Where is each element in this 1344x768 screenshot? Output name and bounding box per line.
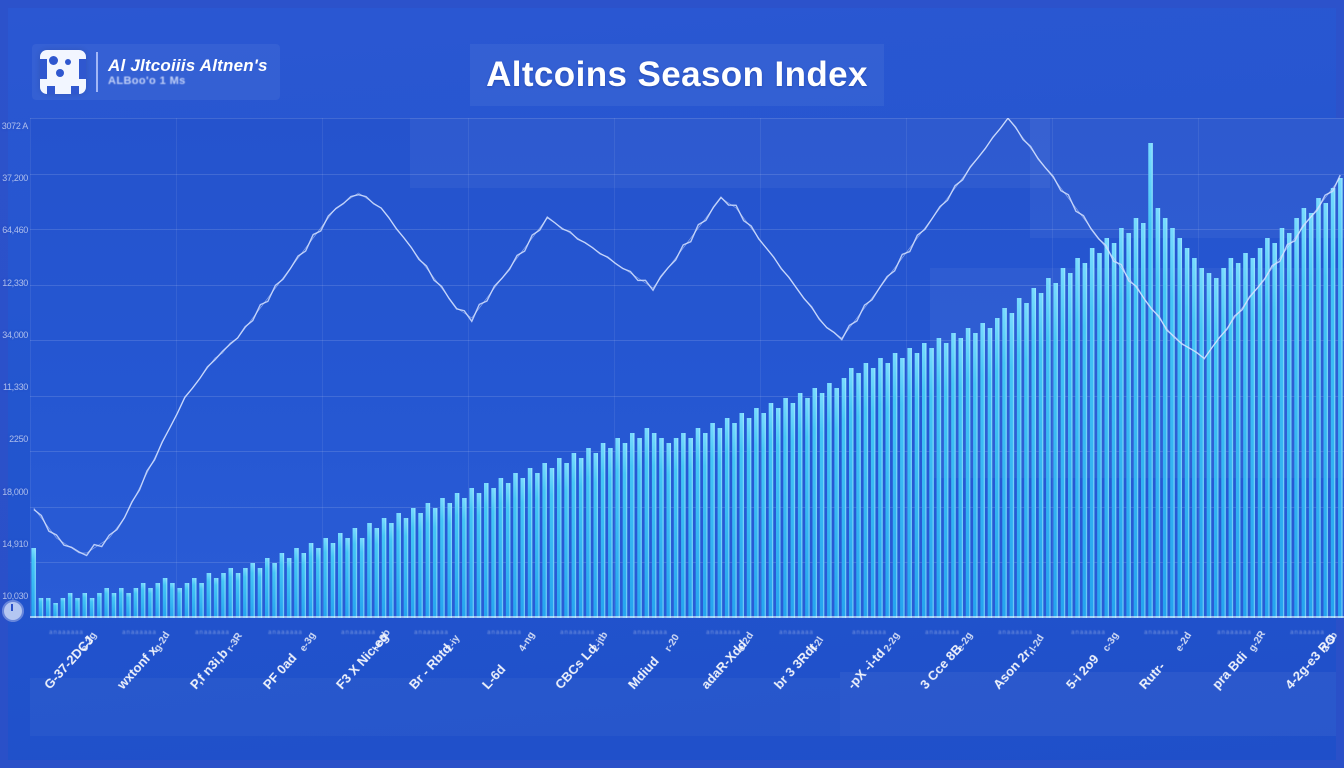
y-axis-tick: 12,330 xyxy=(2,278,28,288)
y-axis-tick: 18,000 xyxy=(2,487,28,497)
x-axis-minor-tick: anaaaaaa xyxy=(195,630,230,636)
x-axis-tick-lower: 4-2g-e3 RO xyxy=(1282,631,1339,692)
x-axis-tick-lower: G-37-2DCJ xyxy=(41,633,97,692)
page-title: Altcoins Season Index xyxy=(486,55,868,95)
bar-series xyxy=(31,143,1342,618)
x-axis-tick-lower: L-6d xyxy=(479,662,509,692)
x-axis-tick-lower: wxtonf x xyxy=(114,643,160,692)
x-axis-minor-tick: anaaaaaa xyxy=(49,630,84,636)
logo-text: Al Jltcoiiis Altnen's ALBoo'o 1 Ms xyxy=(108,56,268,87)
x-axis-tick-lower: Mdiud xyxy=(625,654,662,692)
chart-series-layer xyxy=(30,118,1344,618)
x-axis-minor-tick: anaaaaaa xyxy=(560,630,595,636)
x-axis-minor-tick: anaaaaaa xyxy=(1217,630,1252,636)
altcoin-badge-icon xyxy=(40,50,86,94)
page-title-plate: Altcoins Season Index xyxy=(470,44,884,106)
x-axis-minor-tick: anaaaaaa xyxy=(779,630,814,636)
x-axis-minor-tick: anaaaaaa xyxy=(633,630,668,636)
axis-origin-marker[interactable] xyxy=(2,600,24,622)
x-axis-baseline xyxy=(30,616,1344,618)
logo-divider xyxy=(96,52,98,92)
x-axis-tick-lower: CBCs Ld xyxy=(552,641,600,692)
x-axis: anaaaaaaanaaaaaaanaaaaaaanaaaaaaanaaaaaa… xyxy=(30,622,1344,768)
logo-subtitle: ALBoo'o 1 Ms xyxy=(108,75,268,87)
y-axis-tick: 2250 xyxy=(9,434,28,444)
x-axis-tick-lower: -pX -i-td xyxy=(844,646,888,693)
x-axis-tick-lower: Rutr- xyxy=(1136,659,1168,692)
y-axis-tick: 37,200 xyxy=(2,173,28,183)
y-axis-tick: 64,460 xyxy=(2,225,28,235)
x-axis-minor-tick: anaaaaaa xyxy=(925,630,960,636)
x-axis-tick-lower: Br - Rbtd xyxy=(406,641,454,692)
x-axis-tick-lower: Ason 2r, xyxy=(990,644,1035,692)
y-axis-tick: 11,330 xyxy=(3,382,28,392)
logo-title: Al Jltcoiiis Altnen's xyxy=(108,56,268,75)
y-axis-tick: 14,910 xyxy=(2,539,28,549)
x-axis-tick-lower: F3 X Nic-eg xyxy=(333,629,392,692)
screenshot-root: Al Jltcoiiis Altnen's ALBoo'o 1 Ms Altco… xyxy=(0,0,1344,768)
x-axis-tick-lower: adaR-Xdd xyxy=(698,637,750,692)
x-axis-minor-tick: anaaaaaa xyxy=(1071,630,1106,636)
x-axis-minor-tick: anaaaaaa xyxy=(122,630,157,636)
x-axis-minor-tick: anaaaaaa xyxy=(706,630,741,636)
x-axis-minor-tick: anaaaaaa xyxy=(414,630,449,636)
x-axis-tick-lower: 5-i 2o9 xyxy=(1063,651,1102,692)
chart-plot-area[interactable] xyxy=(30,118,1344,618)
brand-logo[interactable]: Al Jltcoiiis Altnen's ALBoo'o 1 Ms xyxy=(32,44,280,100)
x-axis-minor-tick: anaaaaaa xyxy=(268,630,303,636)
x-axis-tick-lower: pra Bdi xyxy=(1209,649,1250,692)
y-axis: 3072 A37,20064,46012,33034,00011,3302250… xyxy=(0,118,30,618)
y-axis-tick: 34,000 xyxy=(2,330,28,340)
x-axis-minor-tick: anaaaaaa xyxy=(487,630,522,636)
x-axis-minor-tick: anaaaaaa xyxy=(852,630,887,636)
x-axis-tick-lower: PF 0ad xyxy=(260,650,300,692)
x-axis-minor-tick: anaaaaaa xyxy=(341,630,376,636)
x-axis-minor-tick: anaaaaaa xyxy=(1144,630,1179,636)
y-axis-tick: 3072 A xyxy=(2,121,28,131)
x-axis-tick-lower: 3 Cce 8B xyxy=(917,641,965,692)
x-axis-minor-tick: anaaaaaa xyxy=(1290,630,1325,636)
x-axis-minor-tick: anaaaaaa xyxy=(998,630,1033,636)
x-axis-tick-lower: P,f n3i,b xyxy=(187,646,231,692)
x-axis-tick-lower: br 3 3Rdt xyxy=(771,640,820,692)
